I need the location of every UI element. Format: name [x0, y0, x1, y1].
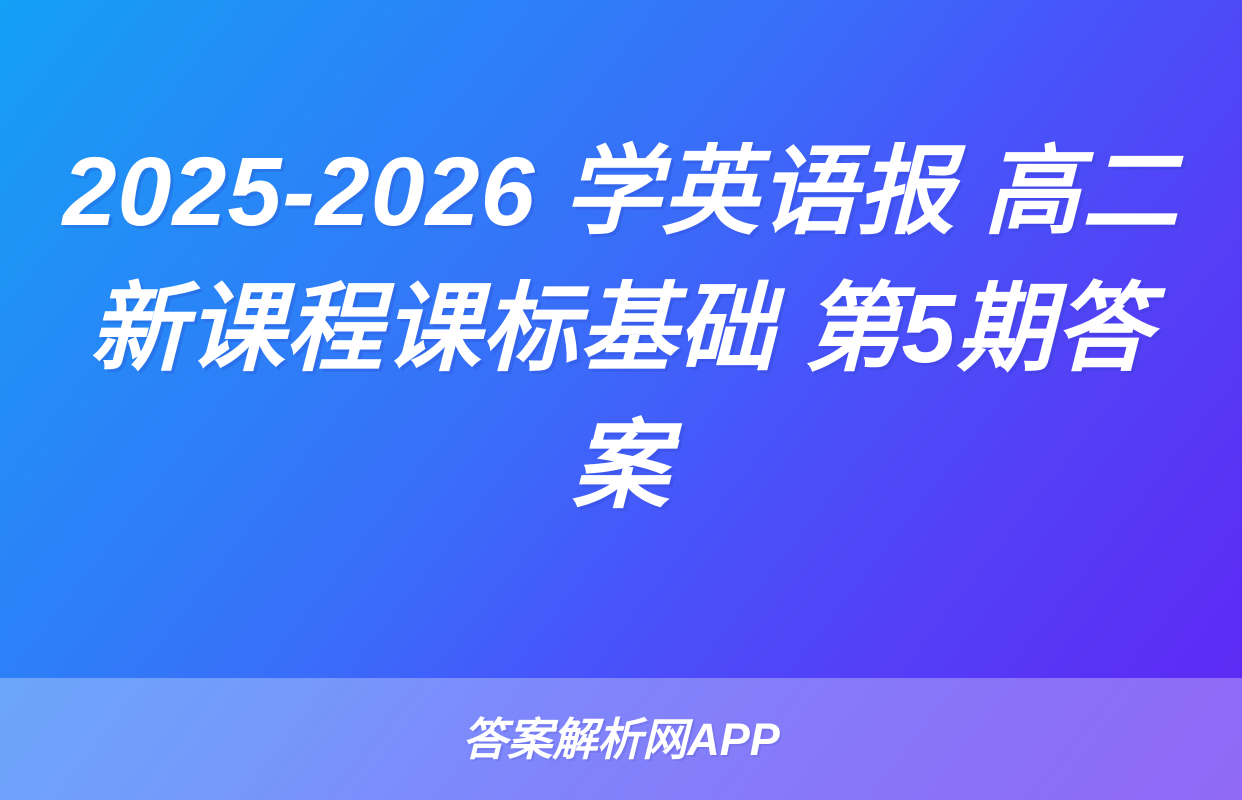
title-area: 2025-2026 学英语报 高二 新课程课标基础 第5期答案 — [0, 0, 1242, 678]
app-watermark-label: 答案解析网APP — [462, 717, 780, 762]
page-title: 2025-2026 学英语报 高二 新课程课标基础 第5期答案 — [60, 123, 1182, 534]
poster-banner: 2025-2026 学英语报 高二 新课程课标基础 第5期答案 答案解析网APP — [0, 0, 1242, 800]
footer-watermark-band: 答案解析网APP — [0, 678, 1242, 800]
